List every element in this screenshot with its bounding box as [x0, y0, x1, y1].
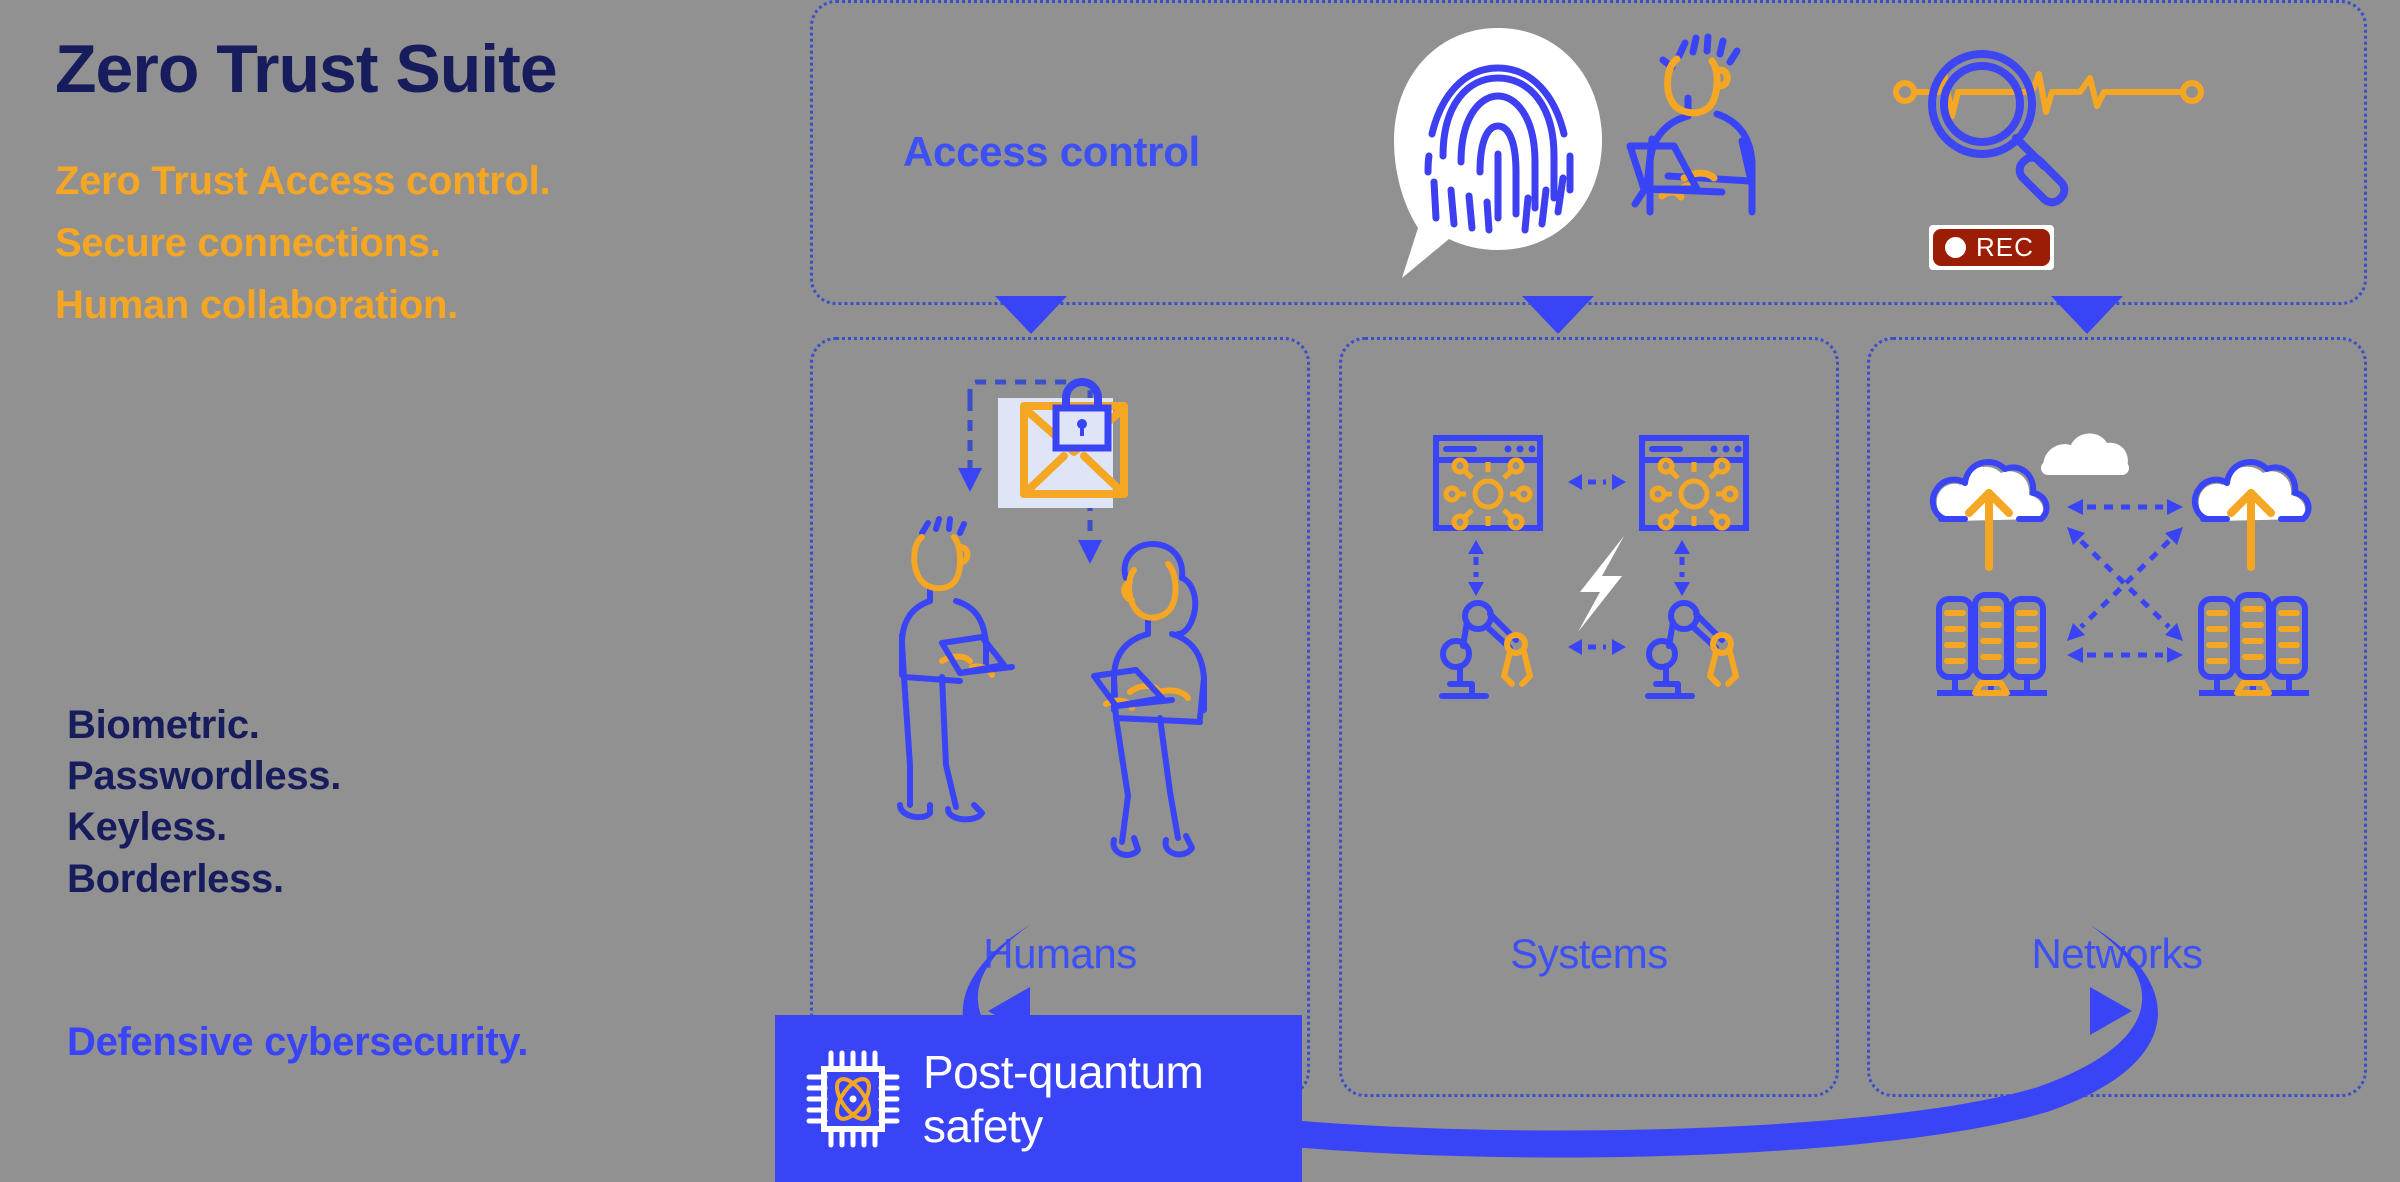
cloud-icon [2041, 433, 2129, 475]
humans-illustration [900, 380, 1320, 800]
magnifier-pulse-icon [1892, 68, 2222, 208]
record-dot-icon [1945, 237, 1966, 258]
systems-illustration [1430, 432, 1760, 702]
rec-badge: REC [1929, 225, 2054, 270]
post-quantum-label: Post-quantum safety [923, 1045, 1302, 1153]
diagram-area: Access control [810, 0, 2400, 1182]
person-with-laptop-icon [900, 519, 1012, 819]
lightning-bolt-icon [1578, 536, 1624, 632]
post-quantum-banner: Post-quantum safety [775, 1015, 1302, 1182]
connector-arrow-humans-icon [995, 296, 1067, 334]
infographic-canvas: Zero Trust Suite Zero Trust Access contr… [0, 0, 2400, 1182]
server-rack-icon [2199, 595, 2309, 693]
tagline-list: Zero Trust Access control. Secure connec… [55, 150, 815, 336]
feature-item: Keyless. [67, 802, 827, 853]
cloud-upload-icon [1933, 462, 2047, 567]
arrowhead-icon [1078, 540, 1102, 564]
page-title: Zero Trust Suite [55, 35, 557, 103]
tagline-item: Human collaboration. [55, 274, 815, 336]
connector-arrow-networks-icon [2051, 296, 2123, 334]
robot-arm-icon [1648, 603, 1736, 696]
tagline-item: Zero Trust Access control. [55, 150, 815, 212]
access-control-title: Access control [903, 128, 1200, 176]
tagline-item: Secure connections. [55, 212, 815, 274]
person-with-laptop-icon [1622, 26, 1837, 216]
arrowhead-icon [958, 468, 982, 492]
feature-item: Biometric. [67, 700, 827, 751]
feature-list: Biometric. Passwordless. Keyless. Border… [67, 700, 827, 905]
fingerprint-bubble-icon [1388, 22, 1608, 292]
browser-gear-icon [1436, 438, 1540, 528]
rec-label: REC [1976, 234, 2034, 260]
closing-statement: Defensive cybersecurity. [67, 1020, 528, 1065]
networks-illustration [1915, 415, 2335, 695]
robot-arm-icon [1442, 603, 1530, 696]
dashed-double-arrow-icon [2067, 499, 2183, 663]
feature-item: Borderless. [67, 854, 827, 905]
lock-icon [1056, 382, 1108, 448]
server-rack-icon [1937, 595, 2047, 693]
quantum-chip-icon [805, 1047, 897, 1151]
browser-gear-icon [1642, 438, 1746, 528]
connector-arrow-systems-icon [1522, 296, 1594, 334]
cloud-upload-icon [2195, 462, 2309, 567]
feature-item: Passwordless. [67, 751, 827, 802]
